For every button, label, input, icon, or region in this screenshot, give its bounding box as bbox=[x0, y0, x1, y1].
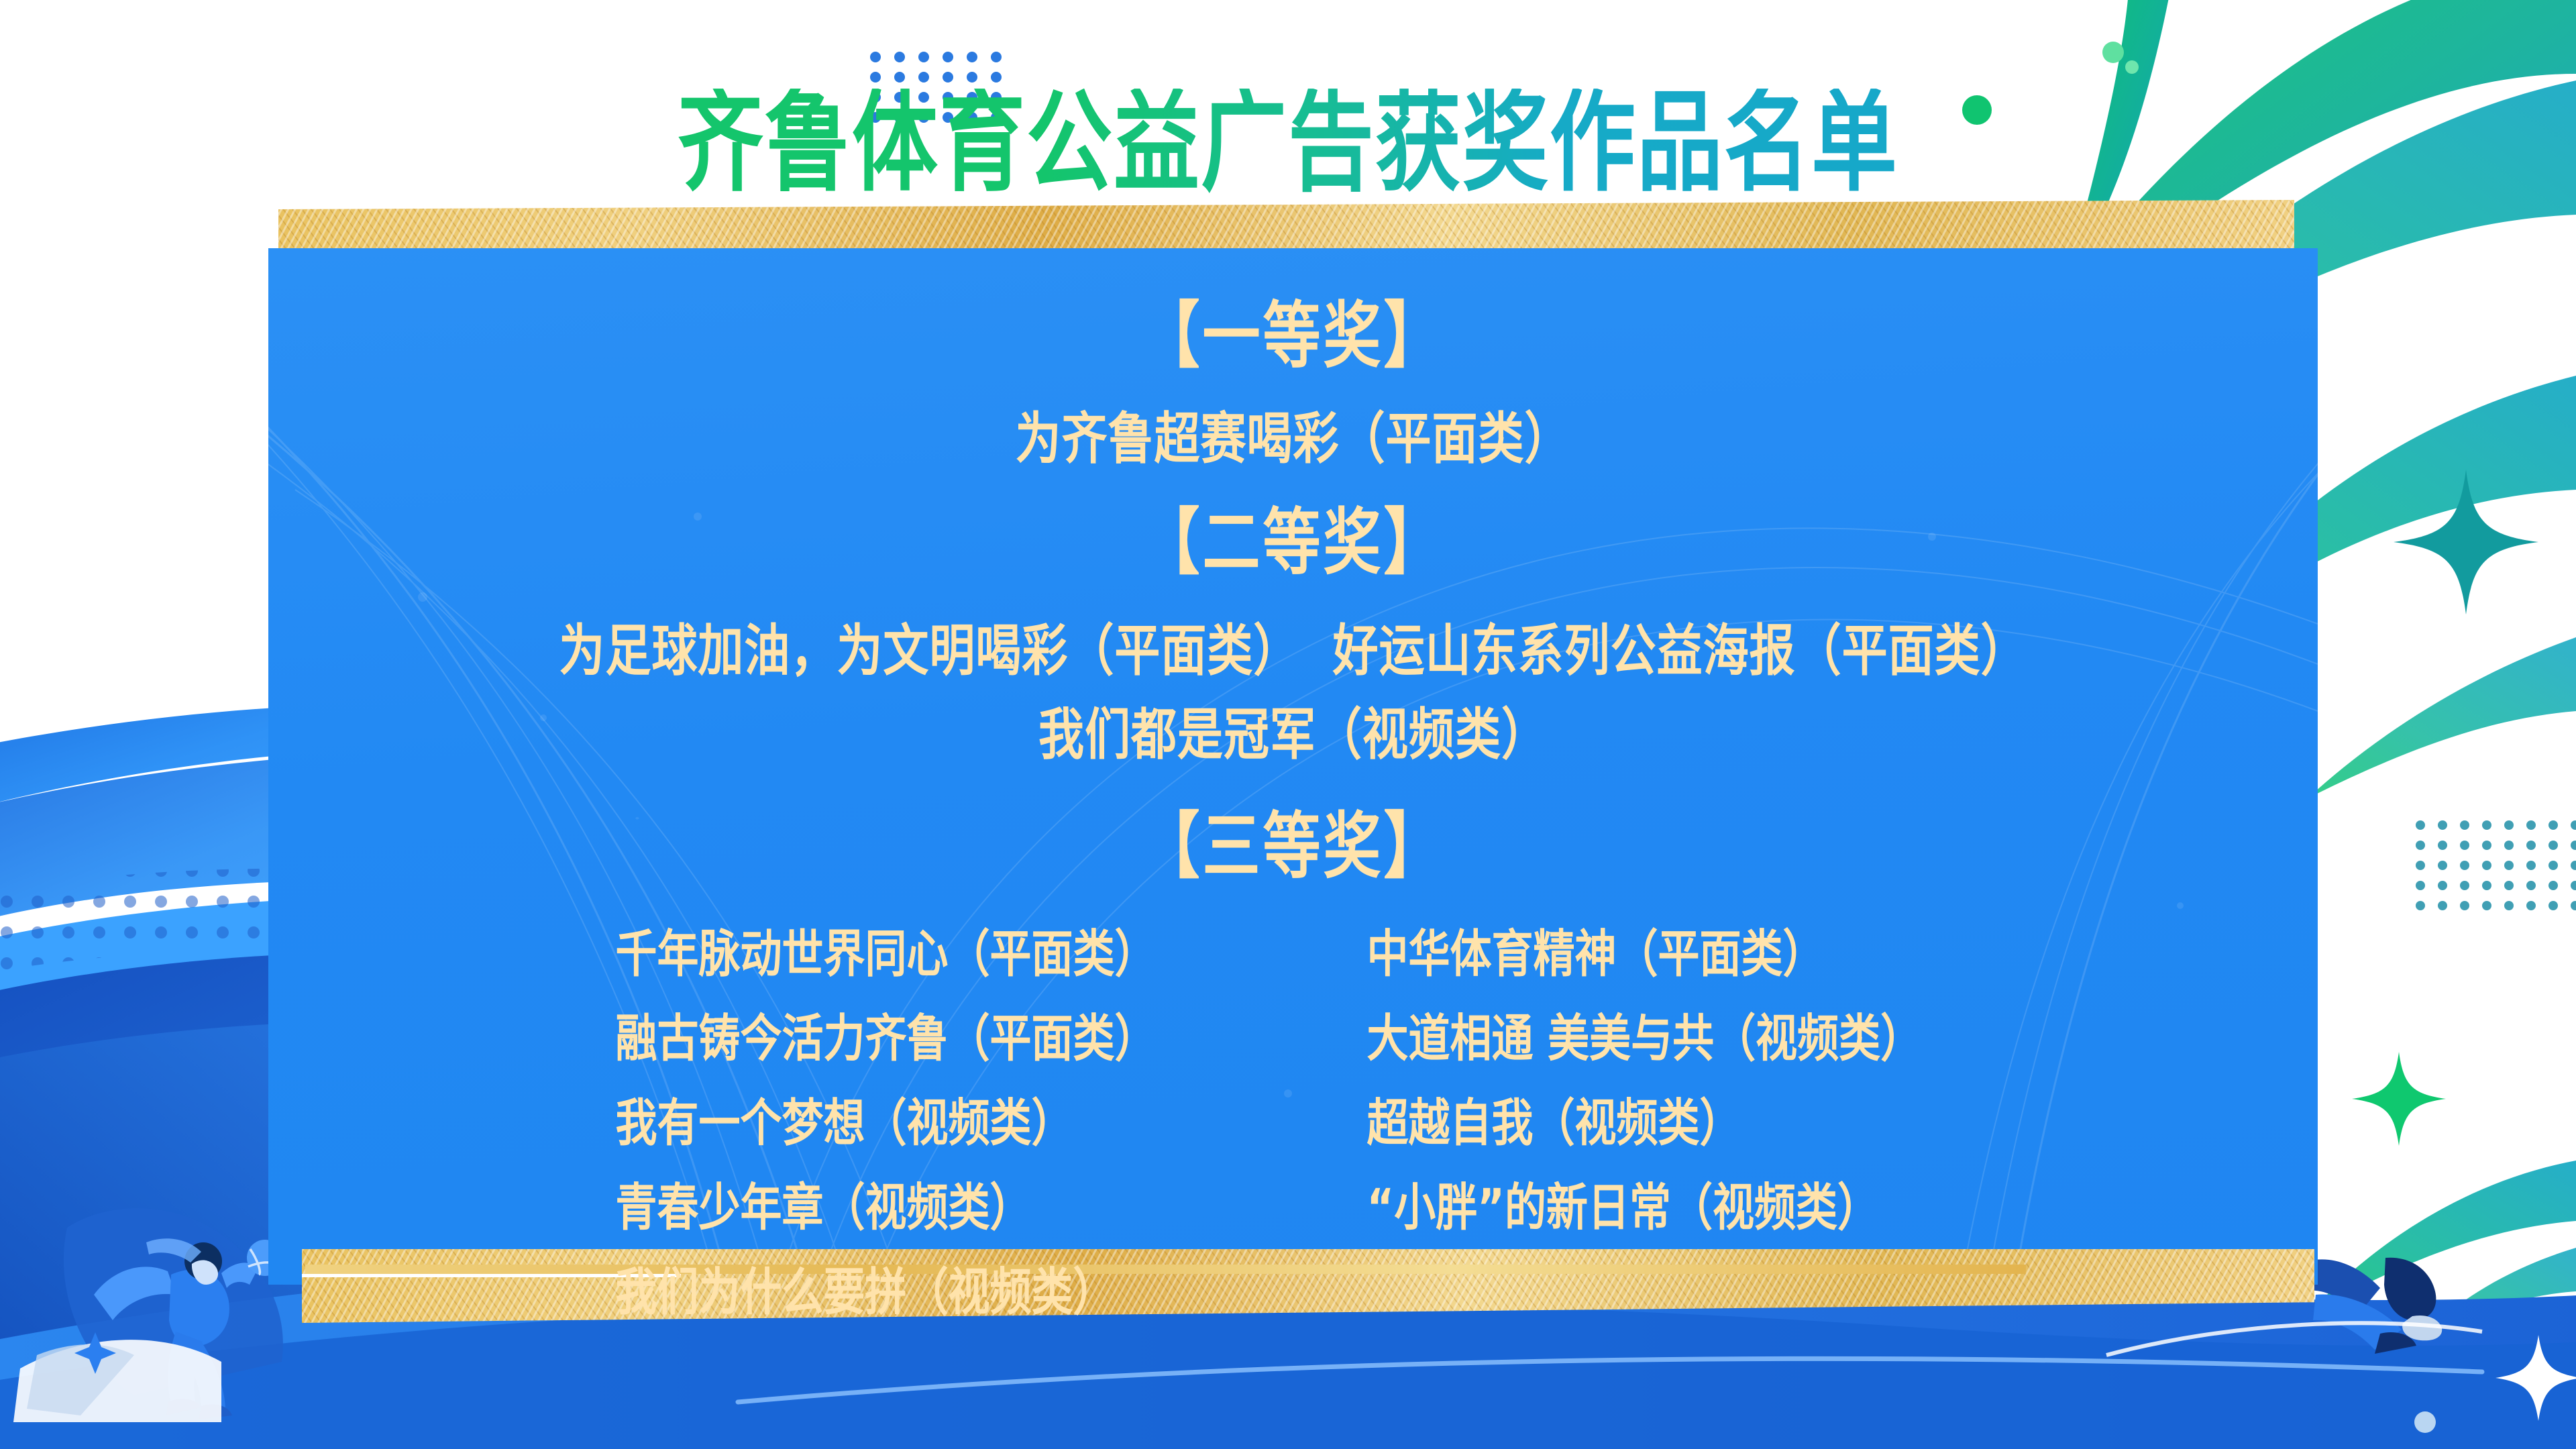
gold-band-top bbox=[278, 200, 2294, 252]
green-four-point-star bbox=[2352, 1052, 2446, 1146]
green-teal-swoosh-bottom bbox=[2308, 1161, 2576, 1342]
award-entry-third-5-right bbox=[1293, 1250, 2031, 1324]
award-heading-third: 【三等奖】 bbox=[268, 787, 2318, 892]
award-entry-third-1-right: 中华体育精神（平面类） bbox=[1293, 912, 2031, 986]
award-entry-third-5-left: 我们为什么要拼（视频类） bbox=[555, 1250, 1293, 1324]
award-entry-first-1: 为齐鲁超赛喝彩（平面类） bbox=[268, 393, 2318, 474]
teal-dot-grid bbox=[2416, 820, 2576, 910]
page-title: 齐鲁体育公益广告获奖作品名单 bbox=[678, 89, 1898, 199]
poster-canvas: 齐鲁体育公益广告获奖作品名单 【一等奖】 为齐鲁超赛喝彩（平面类） 【二等奖】 … bbox=[0, 0, 2576, 1449]
award-entry-third-1-left: 千年脉动世界同心（平面类） bbox=[555, 912, 1293, 986]
award-entry-second-2: 我们都是冠军（视频类） bbox=[268, 689, 2318, 770]
award-heading-second: 【二等奖】 bbox=[268, 483, 2318, 588]
award-row-third-1: 千年脉动世界同心（平面类） 中华体育精神（平面类） bbox=[555, 912, 2031, 986]
award-row-third-4: 青春少年章（视频类） “小胖”的新日常（视频类） bbox=[555, 1166, 2031, 1240]
award-entry-third-2-right: 大道相通 美美与共（视频类） bbox=[1293, 997, 2031, 1071]
title-container: 齐鲁体育公益广告获奖作品名单 bbox=[0, 101, 2576, 186]
award-heading-first: 【一等奖】 bbox=[268, 276, 2318, 381]
award-entry-third-4-right: “小胖”的新日常（视频类） bbox=[1293, 1166, 2031, 1240]
award-row-third-5: 我们为什么要拼（视频类） bbox=[555, 1250, 2031, 1324]
award-row-third-3: 我有一个梦想（视频类） 超越自我（视频类） bbox=[555, 1081, 2031, 1155]
award-entry-third-2-left: 融古铸今活力齐鲁（平面类） bbox=[555, 997, 1293, 1071]
award-entry-second-1: 为足球加油，为文明喝彩（平面类） 好运山东系列公益海报（平面类） bbox=[268, 605, 2318, 686]
awards-list: 【一等奖】 为齐鲁超赛喝彩（平面类） 【二等奖】 为足球加油，为文明喝彩（平面类… bbox=[268, 248, 2318, 1285]
award-row-third-2: 融古铸今活力齐鲁（平面类） 大道相通 美美与共（视频类） bbox=[555, 997, 2031, 1071]
award-entry-third-3-left: 我有一个梦想（视频类） bbox=[555, 1081, 1293, 1155]
award-entry-third-4-left: 青春少年章（视频类） bbox=[555, 1166, 1293, 1240]
teal-four-point-star bbox=[2394, 470, 2538, 614]
volleyball-player-illustration bbox=[13, 1208, 283, 1422]
award-entry-third-3-right: 超越自我（视频类） bbox=[1293, 1081, 2031, 1155]
